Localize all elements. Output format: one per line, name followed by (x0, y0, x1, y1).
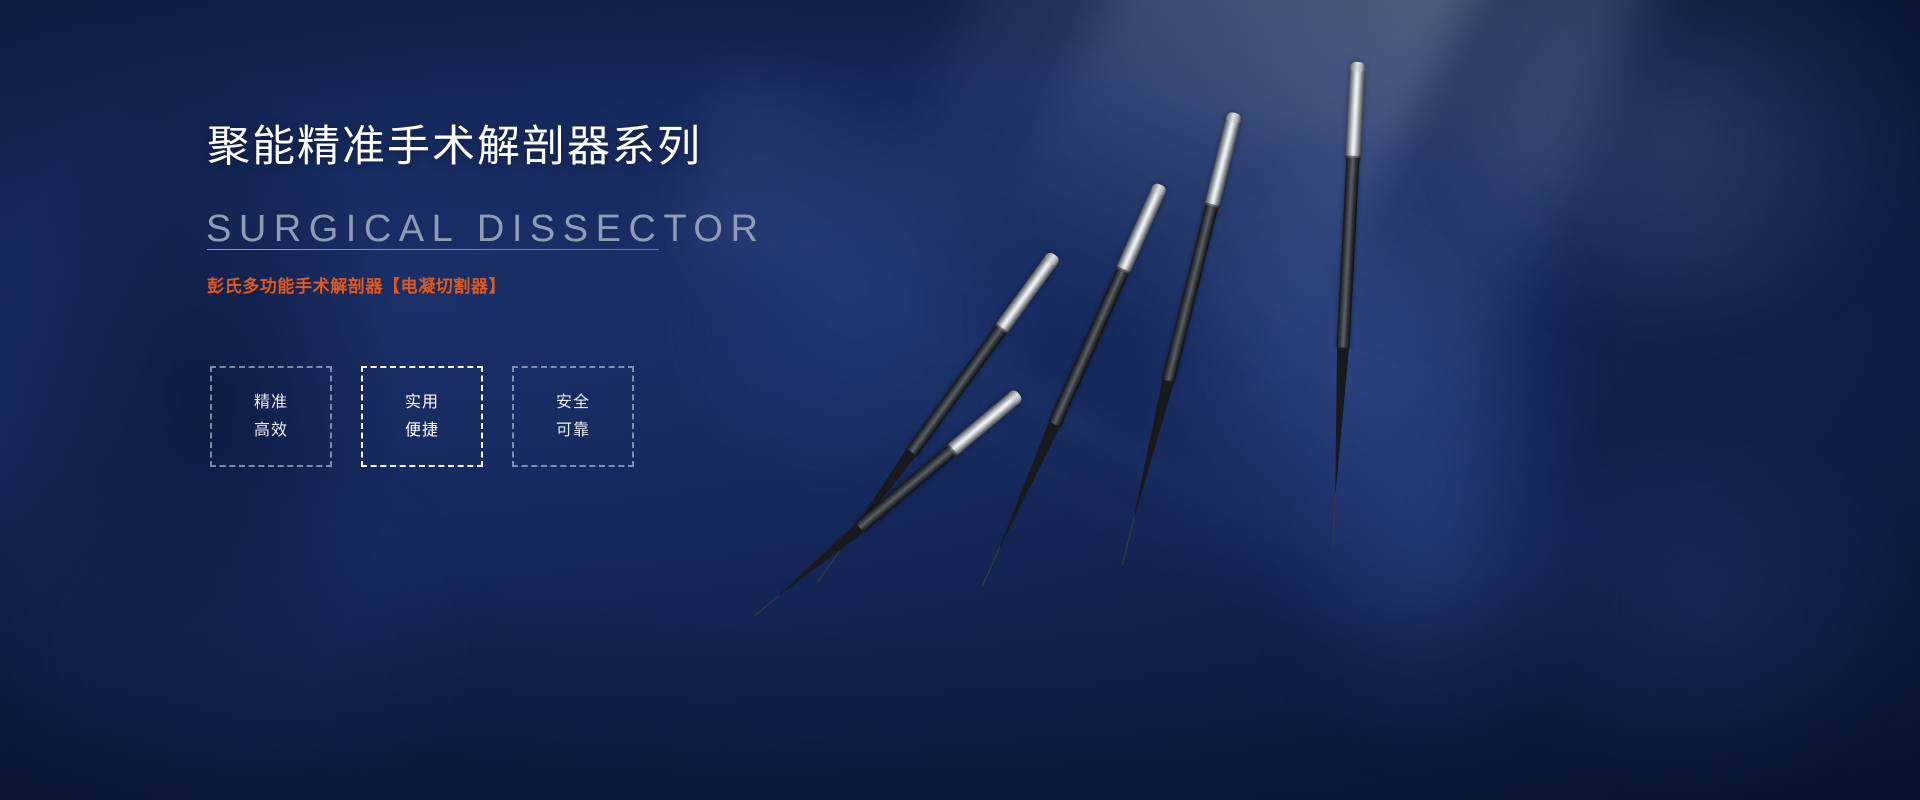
feature-line-1: 实用 (405, 389, 439, 417)
banner-title-cn: 聚能精准手术解剖器系列 (207, 126, 702, 169)
feature-line-2: 可靠 (556, 417, 590, 445)
title-divider (207, 249, 659, 250)
feature-line-1: 安全 (556, 389, 590, 417)
banner-title-en: SURGICAL DISSECTOR (206, 210, 765, 248)
feature-line-2: 便捷 (405, 417, 439, 445)
feature-line-1: 精准 (254, 389, 288, 417)
banner-content: 聚能精准手术解剖器系列 SURGICAL DISSECTOR 彭氏多功能手术解剖… (0, 0, 1920, 800)
feature-box-precision: 精准 高效 (210, 366, 332, 467)
feature-box-group: 精准 高效 实用 便捷 安全 可靠 (210, 366, 634, 467)
feature-line-2: 高效 (254, 417, 288, 445)
feature-box-safety: 安全 可靠 (512, 366, 634, 467)
product-banner: 聚能精准手术解剖器系列 SURGICAL DISSECTOR 彭氏多功能手术解剖… (0, 0, 1920, 800)
product-name-label: 彭氏多功能手术解剖器【电凝切割器】 (207, 278, 506, 295)
feature-box-practical: 实用 便捷 (361, 366, 483, 467)
